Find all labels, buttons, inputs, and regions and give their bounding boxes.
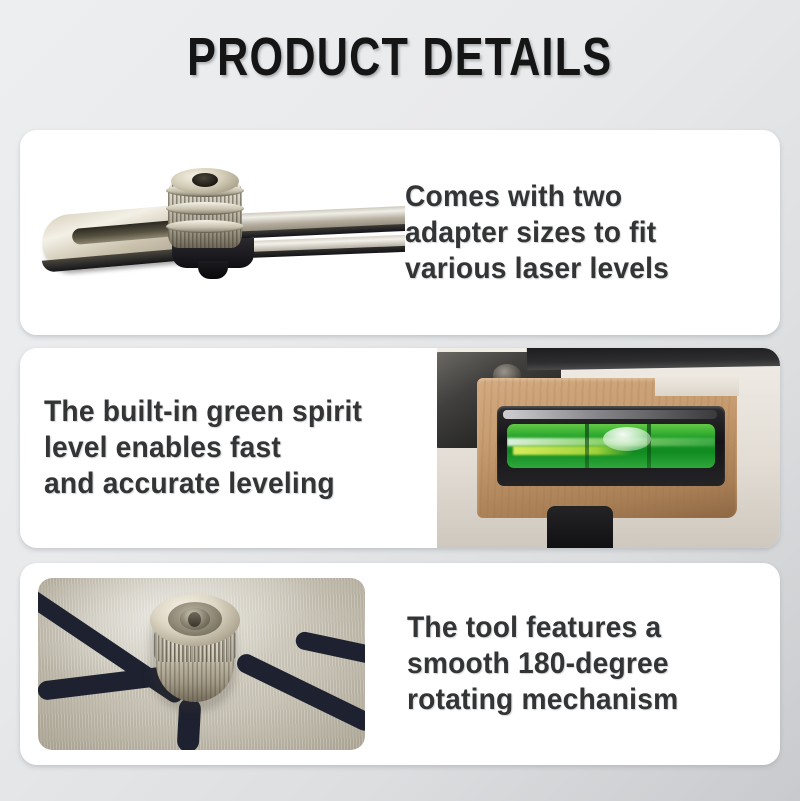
thumbscrew-thread-hole — [192, 173, 218, 187]
green-spirit-level-photo — [437, 348, 780, 548]
vial-housing-highlight — [503, 410, 717, 419]
level-bubble — [603, 427, 651, 451]
feature-card-2-copy: The built-in green spirit level enables … — [20, 394, 437, 502]
thumbscrew-ring-bottom — [166, 220, 244, 233]
feature-card-2: The built-in green spirit level enables … — [20, 348, 780, 548]
screw-center-pin — [188, 612, 201, 627]
vial-graduation-left — [585, 424, 589, 468]
thumbscrew-ring-middle — [166, 202, 244, 215]
feature-card-3-layout: The tool features a smooth 180-degree ro… — [20, 563, 780, 765]
feature-card-2-caption: The built-in green spirit level enables … — [44, 394, 413, 502]
bracket-illustration — [20, 130, 405, 335]
dial-illustration — [38, 578, 365, 750]
wood-mount-notch — [655, 374, 739, 396]
feature-card-1-caption: Comes with two adapter sizes to fit vari… — [405, 179, 758, 287]
feature-card-1: Comes with two adapter sizes to fit vari… — [20, 130, 780, 335]
black-support-post — [547, 506, 613, 548]
page-title: PRODUCT DETAILS — [187, 26, 612, 88]
product-details-page: PRODUCT DETAILS — [0, 0, 800, 801]
spirit-level-illustration — [437, 348, 780, 548]
feature-card-3: The tool features a smooth 180-degree ro… — [20, 563, 780, 765]
rotating-mechanism-dial-photo — [38, 578, 365, 750]
feature-card-1-layout: Comes with two adapter sizes to fit vari… — [20, 130, 780, 335]
page-title-container: PRODUCT DETAILS — [0, 26, 800, 88]
vial-graduation-right — [647, 424, 651, 468]
feature-card-3-copy: The tool features a smooth 180-degree ro… — [365, 610, 780, 718]
feature-card-1-copy: Comes with two adapter sizes to fit vari… — [405, 179, 780, 287]
black-base-nub — [198, 261, 228, 279]
feature-card-2-layout: The built-in green spirit level enables … — [20, 348, 780, 548]
feature-card-3-caption: The tool features a smooth 180-degree ro… — [407, 610, 758, 718]
laser-level-adapter-bracket-photo — [20, 130, 405, 335]
green-liquid-vial — [507, 424, 715, 468]
